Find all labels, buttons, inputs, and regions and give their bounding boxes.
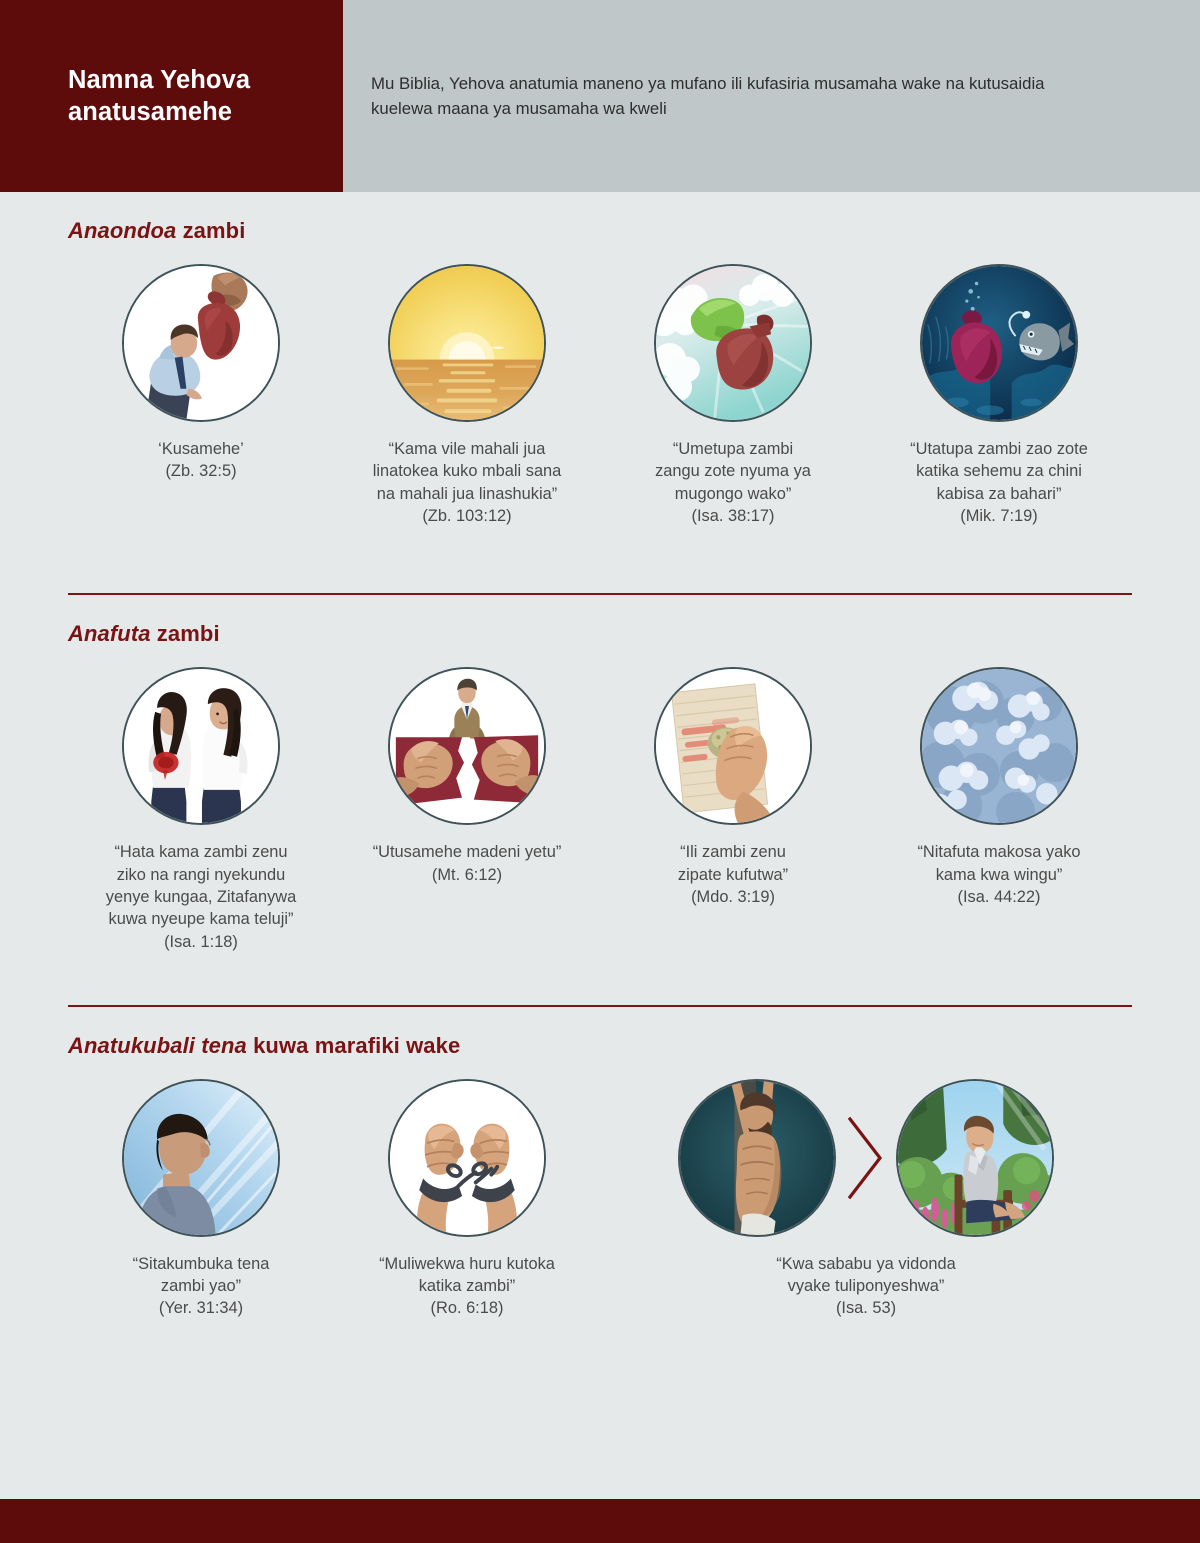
caption-line: yenye kungaa, Zitafanywa: [76, 886, 326, 908]
caption-line: linatokea kuko mbali sana: [342, 460, 592, 482]
sack-thrown-behind-back-in-sky-icon: [654, 264, 812, 422]
caption-line: “Nitafuta makosa yako: [874, 841, 1124, 863]
section-heading: Anatukubali tena kuwa marafiki wake: [68, 1033, 1132, 1059]
item-caption: “Utusamehe madeni yetu” (Mt. 6:12): [342, 841, 592, 886]
caption-line: zangu zote nyuma ya: [608, 460, 858, 482]
caption-line: na mahali jua linashukia”: [342, 483, 592, 505]
item-deep-sea: “Utatupa zambi zao zote katika sehemu za…: [866, 264, 1132, 527]
section-anaondoa-zambi: Anaondoa zambi: [68, 192, 1132, 527]
item-caption: “Hata kama zambi zenu ziko na rangi nyek…: [76, 841, 326, 953]
item-caption: “Utatupa zambi zao zote katika sehemu za…: [874, 438, 1124, 527]
item-healed-by-his-wounds: “Kwa sababu ya vidonda vyake tuliponyesh…: [600, 1079, 1132, 1320]
item-caption: “Kama vile mahali jua linatokea kuko mba…: [342, 438, 592, 527]
section-heading: Anafuta zambi: [68, 621, 1132, 647]
caption-line: (Isa. 38:17): [608, 505, 858, 527]
content-area: Anaondoa zambi: [0, 192, 1200, 1320]
caption-line: zambi yao”: [76, 1275, 326, 1297]
caption-line: (Ro. 6:18): [342, 1297, 592, 1319]
hands-tearing-debt-certificate-icon: [388, 667, 546, 825]
page-footer-bar: [0, 1499, 1200, 1543]
caption-line: “Sitakumbuka tena: [76, 1253, 326, 1275]
item-set-free-from-sin: “Muliwekwa huru kutoka katika zambi” (Ro…: [334, 1079, 600, 1320]
item-sunset: “Kama vile mahali jua linatokea kuko mba…: [334, 264, 600, 527]
caption-line: mugongo wako”: [608, 483, 858, 505]
item-caption: ‘Kusamehe’ (Zb. 32:5): [76, 438, 326, 483]
caption-line: ‘Kusamehe’: [76, 438, 326, 460]
caption-line: (Zb. 103:12): [342, 505, 592, 527]
item-wiping-scroll: “Ili zambi zenu zipate kufutwa” (Mdo. 3:…: [600, 667, 866, 908]
fists-with-broken-chains-icon: [388, 1079, 546, 1237]
item-clouds: “Nitafuta makosa yako kama kwa wingu” (I…: [866, 667, 1132, 908]
sunset-over-ocean-icon: [388, 264, 546, 422]
caption-line: (Mik. 7:19): [874, 505, 1124, 527]
section-heading-emphasis: Anaondoa: [68, 218, 176, 243]
item-caption: “Ili zambi zenu zipate kufutwa” (Mdo. 3:…: [608, 841, 858, 908]
section-divider: [68, 1005, 1132, 1007]
caption-line: katika sehemu za chini: [874, 460, 1124, 482]
man-with-red-burden-sack-being-lifted-icon: [122, 264, 280, 422]
caption-line: (Zb. 32:5): [76, 460, 326, 482]
caption-line: katika zambi”: [342, 1275, 592, 1297]
caption-line: (Yer. 31:34): [76, 1297, 326, 1319]
item-caption: “Kwa sababu ya vidonda vyake tuliponyesh…: [666, 1253, 1066, 1320]
section-heading: Anaondoa zambi: [68, 218, 1132, 244]
section-heading-rest: zambi: [151, 621, 220, 646]
item-caption: “Nitafuta makosa yako kama kwa wingu” (I…: [874, 841, 1124, 908]
section-heading-rest: kuwa marafiki wake: [247, 1033, 460, 1058]
caption-line: kama kwa wingu”: [874, 864, 1124, 886]
section-divider: [68, 593, 1132, 595]
section-2-items-row: “Hata kama zambi zenu ziko na rangi nyek…: [68, 667, 1132, 953]
caption-line: “Utusamehe madeni yetu”: [342, 841, 592, 863]
caption-line: “Ili zambi zenu: [608, 841, 858, 863]
section-anafuta-zambi: Anafuta zambi: [68, 593, 1132, 953]
section-heading-emphasis: Anatukubali tena: [68, 1033, 247, 1058]
man-looking-up-at-bright-sky-icon: [122, 1079, 280, 1237]
caption-line: ziko na rangi nyekundu: [76, 864, 326, 886]
section-anatukubali-tena: Anatukubali tena kuwa marafiki wake: [68, 1005, 1132, 1320]
jesus-on-torture-stake-icon: [678, 1079, 836, 1237]
item-caption: “Umetupa zambi zangu zote nyuma ya mugon…: [608, 438, 858, 527]
caption-line: “Muliwekwa huru kutoka: [342, 1253, 592, 1275]
caption-line: vyake tuliponyeshwa”: [666, 1275, 1066, 1297]
caption-line: kabisa za bahari”: [874, 483, 1124, 505]
caption-line: “Utatupa zambi zao zote: [874, 438, 1124, 460]
item-torn-debt: “Utusamehe madeni yetu” (Mt. 6:12): [334, 667, 600, 886]
item-caption: “Muliwekwa huru kutoka katika zambi” (Ro…: [342, 1253, 592, 1320]
clouds-in-sky-icon: [920, 667, 1078, 825]
page-header: Namna Yehova anatusamehe Mu Biblia, Yeho…: [0, 0, 1200, 192]
man-resting-peacefully-on-bench-in-garden-icon: [896, 1079, 1054, 1237]
caption-line: “Kama vile mahali jua: [342, 438, 592, 460]
caption-line: (Isa. 1:18): [76, 931, 326, 953]
caption-line: zipate kufutwa”: [608, 864, 858, 886]
page-subtitle: Mu Biblia, Yehova anatumia maneno ya muf…: [371, 71, 1101, 121]
caption-line: “Hata kama zambi zenu: [76, 841, 326, 863]
sack-sinking-in-deep-sea-with-anglerfish-icon: [920, 264, 1078, 422]
item-sin-remembered-no-more: “Sitakumbuka tena zambi yao” (Yer. 31:34…: [68, 1079, 334, 1320]
page-title: Namna Yehova anatusamehe: [68, 64, 303, 128]
caption-line: “Kwa sababu ya vidonda: [666, 1253, 1066, 1275]
section-heading-rest: zambi: [176, 218, 245, 243]
section-heading-emphasis: Anafuta: [68, 621, 151, 646]
item-kusamehe: ‘Kusamehe’ (Zb. 32:5): [68, 264, 334, 483]
item-caption: “Sitakumbuka tena zambi yao” (Yer. 31:34…: [76, 1253, 326, 1320]
header-subtitle-box: Mu Biblia, Yehova anatumia maneno ya muf…: [343, 0, 1200, 192]
section-3-items-row: “Sitakumbuka tena zambi yao” (Yer. 31:34…: [68, 1079, 1132, 1320]
header-title-box: Namna Yehova anatusamehe: [0, 0, 343, 192]
chevron-right-arrow-icon: [836, 1079, 896, 1237]
caption-line: (Isa. 53): [666, 1297, 1066, 1319]
caption-line: (Mt. 6:12): [342, 864, 592, 886]
caption-line: (Mdo. 3:19): [608, 886, 858, 908]
section-1-items-row: ‘Kusamehe’ (Zb. 32:5): [68, 264, 1132, 527]
caption-line: “Umetupa zambi: [608, 438, 858, 460]
item-scarlet-to-white: “Hata kama zambi zenu ziko na rangi nyek…: [68, 667, 334, 953]
item-thrown-behind-back: “Umetupa zambi zangu zote nyuma ya mugon…: [600, 264, 866, 527]
caption-line: (Isa. 44:22): [874, 886, 1124, 908]
hand-wiping-scroll-with-sponge-icon: [654, 667, 812, 825]
caption-line: kuwa nyeupe kama teluji”: [76, 908, 326, 930]
two-women-stained-and-clean-shirt-icon: [122, 667, 280, 825]
